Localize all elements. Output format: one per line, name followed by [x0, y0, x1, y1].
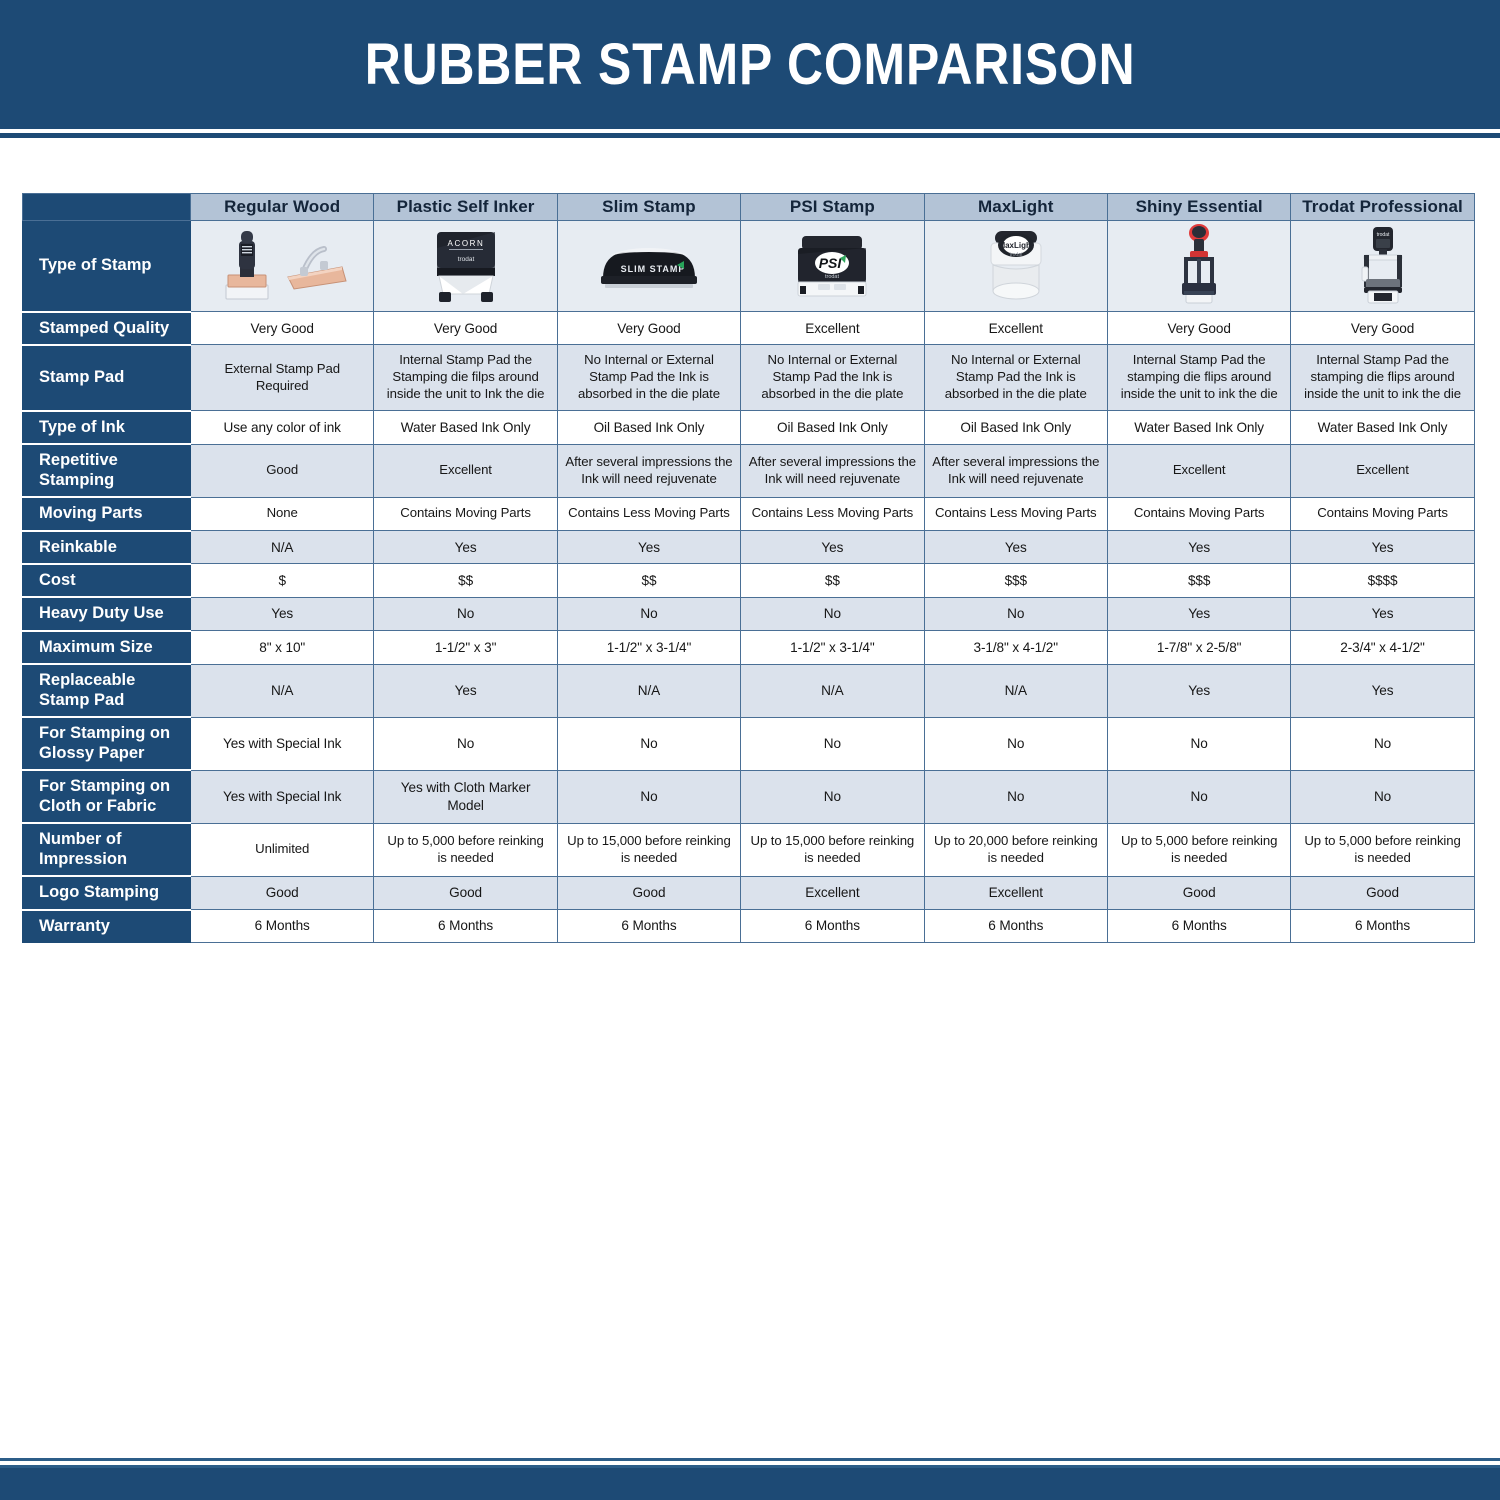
cell-heavy-duty-use-plastic-self-inker: No: [374, 597, 557, 630]
row-label-number-of-impression: Number of Impression: [23, 823, 191, 876]
cell-cost-maxlight: $$$: [924, 564, 1107, 597]
cell-type-of-ink-psi-stamp: Oil Based Ink Only: [741, 411, 924, 444]
cell-glossy-paper-shiny-essential: No: [1107, 717, 1290, 770]
cell-stamp-pad-shiny-essential: Internal Stamp Pad the stamping die flip…: [1107, 345, 1290, 411]
cell-moving-parts-shiny-essential: Contains Moving Parts: [1107, 497, 1290, 530]
row-label-for-stamping-on-cloth-or-fabric: For Stamping on Cloth or Fabric: [23, 770, 191, 823]
svg-text:PSI: PSI: [819, 255, 843, 271]
cell-cloth-or-fabric-maxlight: No: [924, 770, 1107, 823]
row-label-maximum-size: Maximum Size: [23, 631, 191, 664]
header-corner-cell: [23, 194, 191, 221]
cell-maximum-size-maxlight: 3-1/8" x 4-1/2": [924, 631, 1107, 664]
table-row-repetitive-stamping: Repetitive Stamping Good Excellent After…: [23, 444, 1475, 497]
column-header-psi-stamp: PSI Stamp: [741, 194, 924, 221]
cell-reinkable-regular-wood: N/A: [191, 531, 374, 564]
table-row-stamped-quality: Stamped Quality Very Good Very Good Very…: [23, 312, 1475, 345]
cell-reinkable-maxlight: Yes: [924, 531, 1107, 564]
row-label-reinkable: Reinkable: [23, 531, 191, 564]
cell-logo-stamping-trodat-professional: Good: [1291, 876, 1474, 909]
cell-warranty-plastic-self-inker: 6 Months: [374, 910, 557, 943]
column-header-maxlight: MaxLight: [924, 194, 1107, 221]
cell-type-of-ink-shiny-essential: Water Based Ink Only: [1107, 411, 1290, 444]
cell-repetitive-stamping-maxlight: After several impressions the Ink will n…: [924, 444, 1107, 497]
table-row-replaceable-stamp-pad: Replaceable Stamp Pad N/A Yes N/A N/A N/…: [23, 664, 1475, 717]
svg-text:SLIM STAMP: SLIM STAMP: [621, 264, 686, 274]
cell-cloth-or-fabric-trodat-professional: No: [1291, 770, 1474, 823]
cell-heavy-duty-use-trodat-professional: Yes: [1291, 597, 1474, 630]
cell-replaceable-stamp-pad-maxlight: N/A: [924, 664, 1107, 717]
cell-type-of-ink-plastic-self-inker: Water Based Ink Only: [374, 411, 557, 444]
psi-stamp-icon: PSI trodat: [743, 223, 921, 309]
row-label-type-of-stamp: Type of Stamp: [23, 221, 191, 312]
cell-glossy-paper-trodat-professional: No: [1291, 717, 1474, 770]
row-label-cost: Cost: [23, 564, 191, 597]
cell-logo-stamping-maxlight: Excellent: [924, 876, 1107, 909]
cell-number-of-impression-slim-stamp: Up to 15,000 before reinking is needed: [557, 823, 740, 876]
cell-cost-psi-stamp: $$: [741, 564, 924, 597]
table-header-row: Regular Wood Plastic Self Inker Slim Sta…: [23, 194, 1475, 221]
cell-moving-parts-maxlight: Contains Less Moving Parts: [924, 497, 1107, 530]
cell-replaceable-stamp-pad-trodat-professional: Yes: [1291, 664, 1474, 717]
cell-heavy-duty-use-regular-wood: Yes: [191, 597, 374, 630]
row-label-repetitive-stamping: Repetitive Stamping: [23, 444, 191, 497]
cell-cloth-or-fabric-plastic-self-inker: Yes with Cloth Marker Model: [374, 770, 557, 823]
cell-stamped-quality-plastic-self-inker: Very Good: [374, 312, 557, 345]
plastic-self-inker-icon: ACORN trodat: [376, 223, 554, 309]
cell-warranty-trodat-professional: 6 Months: [1291, 910, 1474, 943]
cell-warranty-regular-wood: 6 Months: [191, 910, 374, 943]
table-row-stamp-pad: Stamp Pad External Stamp Pad Required In…: [23, 345, 1475, 411]
page-footer-bar: [0, 1468, 1500, 1500]
row-label-heavy-duty-use: Heavy Duty Use: [23, 597, 191, 630]
cell-stamped-quality-psi-stamp: Excellent: [741, 312, 924, 345]
cell-logo-stamping-shiny-essential: Good: [1107, 876, 1290, 909]
cell-type-of-ink-slim-stamp: Oil Based Ink Only: [557, 411, 740, 444]
cell-logo-stamping-slim-stamp: Good: [557, 876, 740, 909]
cell-type-of-ink-trodat-professional: Water Based Ink Only: [1291, 411, 1474, 444]
cell-maximum-size-shiny-essential: 1-7/8" x 2-5/8": [1107, 631, 1290, 664]
cell-type-of-ink-regular-wood: Use any color of ink: [191, 411, 374, 444]
table-row-moving-parts: Moving Parts None Contains Moving Parts …: [23, 497, 1475, 530]
cell-stamp-pad-regular-wood: External Stamp Pad Required: [191, 345, 374, 411]
cell-maximum-size-plastic-self-inker: 1-1/2" x 3": [374, 631, 557, 664]
table-row-heavy-duty-use: Heavy Duty Use Yes No No No No Yes Yes: [23, 597, 1475, 630]
cell-glossy-paper-psi-stamp: No: [741, 717, 924, 770]
stamp-comparison-table: Regular Wood Plastic Self Inker Slim Sta…: [22, 193, 1475, 943]
cell-moving-parts-plastic-self-inker: Contains Moving Parts: [374, 497, 557, 530]
cell-moving-parts-psi-stamp: Contains Less Moving Parts: [741, 497, 924, 530]
page-banner: RUBBER STAMP COMPARISON: [0, 0, 1500, 129]
cell-reinkable-slim-stamp: Yes: [557, 531, 740, 564]
svg-text:MaxLight: MaxLight: [998, 241, 1033, 250]
cell-glossy-paper-regular-wood: Yes with Special Ink: [191, 717, 374, 770]
table-row-logo-stamping: Logo Stamping Good Good Good Excellent E…: [23, 876, 1475, 909]
cell-number-of-impression-trodat-professional: Up to 5,000 before reinking is needed: [1291, 823, 1474, 876]
cell-type-of-stamp-slim-stamp: SLIM STAMP: [557, 221, 740, 312]
shiny-essential-stamp-icon: [1110, 223, 1288, 309]
cell-glossy-paper-plastic-self-inker: No: [374, 717, 557, 770]
cell-repetitive-stamping-regular-wood: Good: [191, 444, 374, 497]
svg-text:trodat: trodat: [1009, 252, 1022, 258]
cell-reinkable-shiny-essential: Yes: [1107, 531, 1290, 564]
row-label-logo-stamping: Logo Stamping: [23, 876, 191, 909]
cell-repetitive-stamping-psi-stamp: After several impressions the Ink will n…: [741, 444, 924, 497]
cell-replaceable-stamp-pad-psi-stamp: N/A: [741, 664, 924, 717]
cell-moving-parts-trodat-professional: Contains Moving Parts: [1291, 497, 1474, 530]
cell-moving-parts-regular-wood: None: [191, 497, 374, 530]
cell-warranty-psi-stamp: 6 Months: [741, 910, 924, 943]
table-row-type-of-stamp: Type of Stamp: [23, 221, 1475, 312]
cell-reinkable-trodat-professional: Yes: [1291, 531, 1474, 564]
cell-logo-stamping-plastic-self-inker: Good: [374, 876, 557, 909]
svg-text:ACORN: ACORN: [447, 239, 484, 248]
cell-number-of-impression-plastic-self-inker: Up to 5,000 before reinking is needed: [374, 823, 557, 876]
cell-stamp-pad-slim-stamp: No Internal or External Stamp Pad the In…: [557, 345, 740, 411]
cell-type-of-stamp-maxlight: MaxLight trodat: [924, 221, 1107, 312]
table-row-number-of-impression: Number of Impression Unlimited Up to 5,0…: [23, 823, 1475, 876]
cell-moving-parts-slim-stamp: Contains Less Moving Parts: [557, 497, 740, 530]
row-label-stamped-quality: Stamped Quality: [23, 312, 191, 345]
cell-stamped-quality-slim-stamp: Very Good: [557, 312, 740, 345]
cell-logo-stamping-psi-stamp: Excellent: [741, 876, 924, 909]
column-header-trodat-professional: Trodat Professional: [1291, 194, 1474, 221]
cell-replaceable-stamp-pad-regular-wood: N/A: [191, 664, 374, 717]
cell-heavy-duty-use-shiny-essential: Yes: [1107, 597, 1290, 630]
cell-logo-stamping-regular-wood: Good: [191, 876, 374, 909]
cell-warranty-maxlight: 6 Months: [924, 910, 1107, 943]
row-label-type-of-ink: Type of Ink: [23, 411, 191, 444]
cell-reinkable-psi-stamp: Yes: [741, 531, 924, 564]
cell-type-of-ink-maxlight: Oil Based Ink Only: [924, 411, 1107, 444]
row-label-stamp-pad: Stamp Pad: [23, 345, 191, 411]
column-header-slim-stamp: Slim Stamp: [557, 194, 740, 221]
cell-cost-plastic-self-inker: $$: [374, 564, 557, 597]
cell-number-of-impression-shiny-essential: Up to 5,000 before reinking is needed: [1107, 823, 1290, 876]
trodat-professional-stamp-icon: trodat: [1293, 223, 1471, 309]
table-row-glossy-paper: For Stamping on Glossy Paper Yes with Sp…: [23, 717, 1475, 770]
table-row-cost: Cost $ $$ $$ $$ $$$ $$$ $$$$: [23, 564, 1475, 597]
cell-number-of-impression-psi-stamp: Up to 15,000 before reinking is needed: [741, 823, 924, 876]
row-label-moving-parts: Moving Parts: [23, 497, 191, 530]
slim-stamp-icon: SLIM STAMP: [560, 223, 738, 309]
cell-cost-trodat-professional: $$$$: [1291, 564, 1474, 597]
cell-reinkable-plastic-self-inker: Yes: [374, 531, 557, 564]
column-header-shiny-essential: Shiny Essential: [1107, 194, 1290, 221]
table-row-reinkable: Reinkable N/A Yes Yes Yes Yes Yes Yes: [23, 531, 1475, 564]
svg-text:trodat: trodat: [457, 256, 474, 263]
cell-maximum-size-slim-stamp: 1-1/2" x 3-1/4": [557, 631, 740, 664]
row-label-warranty: Warranty: [23, 910, 191, 943]
cell-heavy-duty-use-slim-stamp: No: [557, 597, 740, 630]
cell-cost-shiny-essential: $$$: [1107, 564, 1290, 597]
cell-warranty-slim-stamp: 6 Months: [557, 910, 740, 943]
row-label-replaceable-stamp-pad: Replaceable Stamp Pad: [23, 664, 191, 717]
row-label-for-stamping-on-glossy-paper: For Stamping on Glossy Paper: [23, 717, 191, 770]
cell-repetitive-stamping-trodat-professional: Excellent: [1291, 444, 1474, 497]
cell-type-of-stamp-trodat-professional: trodat: [1291, 221, 1474, 312]
page-title: RUBBER STAMP COMPARISON: [365, 31, 1136, 98]
cell-repetitive-stamping-shiny-essential: Excellent: [1107, 444, 1290, 497]
table-body: Type of Stamp: [23, 221, 1475, 943]
cell-heavy-duty-use-psi-stamp: No: [741, 597, 924, 630]
cell-cloth-or-fabric-slim-stamp: No: [557, 770, 740, 823]
cell-type-of-stamp-plastic-self-inker: ACORN trodat: [374, 221, 557, 312]
cell-replaceable-stamp-pad-shiny-essential: Yes: [1107, 664, 1290, 717]
banner-divider-white-bottom: [0, 138, 1500, 141]
wood-handle-stamp-icon: [193, 223, 371, 309]
cell-replaceable-stamp-pad-plastic-self-inker: Yes: [374, 664, 557, 717]
cell-type-of-stamp-shiny-essential: [1107, 221, 1290, 312]
cell-glossy-paper-maxlight: No: [924, 717, 1107, 770]
table-row-maximum-size: Maximum Size 8" x 10" 1-1/2" x 3" 1-1/2"…: [23, 631, 1475, 664]
cell-stamped-quality-maxlight: Excellent: [924, 312, 1107, 345]
cell-type-of-stamp-psi-stamp: PSI trodat: [741, 221, 924, 312]
cell-stamp-pad-maxlight: No Internal or External Stamp Pad the In…: [924, 345, 1107, 411]
table-row-type-of-ink: Type of Ink Use any color of ink Water B…: [23, 411, 1475, 444]
cell-number-of-impression-maxlight: Up to 20,000 before reinking is needed: [924, 823, 1107, 876]
cell-stamped-quality-shiny-essential: Very Good: [1107, 312, 1290, 345]
cell-cloth-or-fabric-shiny-essential: No: [1107, 770, 1290, 823]
cell-repetitive-stamping-slim-stamp: After several impressions the Ink will n…: [557, 444, 740, 497]
cell-replaceable-stamp-pad-slim-stamp: N/A: [557, 664, 740, 717]
cell-cloth-or-fabric-regular-wood: Yes with Special Ink: [191, 770, 374, 823]
cell-number-of-impression-regular-wood: Unlimited: [191, 823, 374, 876]
cell-repetitive-stamping-plastic-self-inker: Excellent: [374, 444, 557, 497]
cell-stamp-pad-psi-stamp: No Internal or External Stamp Pad the In…: [741, 345, 924, 411]
cell-stamped-quality-trodat-professional: Very Good: [1291, 312, 1474, 345]
cell-stamp-pad-plastic-self-inker: Internal Stamp Pad the Stamping die filp…: [374, 345, 557, 411]
cell-cloth-or-fabric-psi-stamp: No: [741, 770, 924, 823]
cell-cost-slim-stamp: $$: [557, 564, 740, 597]
svg-text:trodat: trodat: [1376, 232, 1389, 238]
svg-text:trodat: trodat: [825, 274, 840, 280]
maxlight-stamp-icon: MaxLight trodat: [927, 223, 1105, 309]
column-header-regular-wood: Regular Wood: [191, 194, 374, 221]
cell-maximum-size-trodat-professional: 2-3/4" x 4-1/2": [1291, 631, 1474, 664]
column-header-plastic-self-inker: Plastic Self Inker: [374, 194, 557, 221]
cell-maximum-size-regular-wood: 8" x 10": [191, 631, 374, 664]
table-row-cloth-or-fabric: For Stamping on Cloth or Fabric Yes with…: [23, 770, 1475, 823]
comparison-page: RUBBER STAMP COMPARISON Regular Wood Pla…: [0, 0, 1500, 1500]
cell-stamped-quality-regular-wood: Very Good: [191, 312, 374, 345]
cell-glossy-paper-slim-stamp: No: [557, 717, 740, 770]
cell-cost-regular-wood: $: [191, 564, 374, 597]
table-row-warranty: Warranty 6 Months 6 Months 6 Months 6 Mo…: [23, 910, 1475, 943]
comparison-table-wrapper: Regular Wood Plastic Self Inker Slim Sta…: [22, 193, 1474, 943]
cell-heavy-duty-use-maxlight: No: [924, 597, 1107, 630]
cell-stamp-pad-trodat-professional: Internal Stamp Pad the stamping die flip…: [1291, 345, 1474, 411]
cell-type-of-stamp-regular-wood: [191, 221, 374, 312]
cell-maximum-size-psi-stamp: 1-1/2" x 3-1/4": [741, 631, 924, 664]
cell-warranty-shiny-essential: 6 Months: [1107, 910, 1290, 943]
